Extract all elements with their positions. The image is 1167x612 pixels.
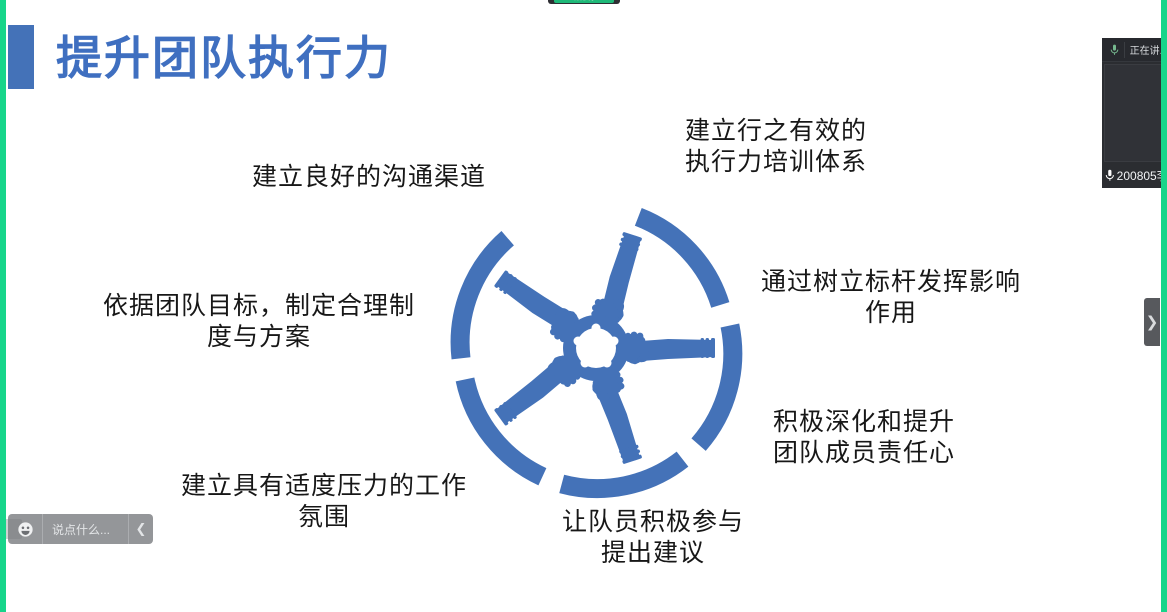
video-feed-area — [1104, 64, 1165, 162]
chat-collapse-button[interactable]: ❮ — [128, 514, 153, 544]
page-title: 提升团队执行力 — [56, 22, 392, 88]
chat-input-placeholder[interactable]: 说点什么... — [43, 521, 128, 538]
wheel-label-responsibility: 积极深化和提升 团队成员责任心 — [744, 408, 984, 469]
screen-share-toolbar[interactable]: 结束共享 — [548, 0, 620, 4]
wheel-label-training: 建立行之有效的 执行力培训体系 — [651, 117, 901, 178]
chat-input-bar[interactable]: 说点什么... ❮ — [8, 514, 153, 544]
participant-name-row: 200805李 — [1102, 164, 1167, 186]
video-panel-header: 正在讲... — [1102, 38, 1167, 62]
participant-video-tile[interactable]: 200805李 — [1102, 62, 1167, 188]
screen-share-border-left — [0, 0, 6, 612]
stop-share-label: 结束共享 — [572, 0, 596, 3]
emoji-icon[interactable] — [8, 514, 43, 544]
mic-small-icon — [1105, 169, 1115, 182]
wheel-label-suggestions: 让队员积极参与 提出建议 — [526, 508, 780, 569]
title-accent-bar — [8, 25, 34, 89]
wheel-label-rules: 依据团队目标，制定合理制 度与方案 — [72, 292, 446, 353]
teamwork-wheel-graphic — [441, 193, 751, 503]
mic-icon[interactable] — [1106, 42, 1125, 58]
stop-share-button[interactable]: 结束共享 — [554, 0, 614, 3]
screen-share-border-right — [1161, 0, 1167, 612]
chevron-left-icon: ❮ — [136, 521, 147, 537]
video-thumbnail-panel[interactable]: 正在讲... 200805李 — [1102, 38, 1167, 188]
panel-expand-button[interactable]: ❯ — [1144, 298, 1160, 346]
chevron-right-icon: ❯ — [1146, 315, 1159, 330]
wheel-label-communication: 建立良好的沟通渠道 — [234, 163, 504, 194]
shared-slide-canvas: 提升团队执行力 建立良好的沟通渠道 建立行之有效的 执行力培训体系 通过树立标杆… — [6, 0, 1161, 612]
participant-name: 200805李 — [1117, 167, 1167, 184]
emoji-icon-glyph — [17, 521, 34, 538]
wheel-label-benchmark: 通过树立标杆发挥影响 作用 — [736, 268, 1046, 329]
mic-icon-glyph — [1110, 44, 1119, 56]
teamwork-wheel-svg — [441, 193, 751, 503]
wheel-center-hub — [563, 315, 629, 381]
